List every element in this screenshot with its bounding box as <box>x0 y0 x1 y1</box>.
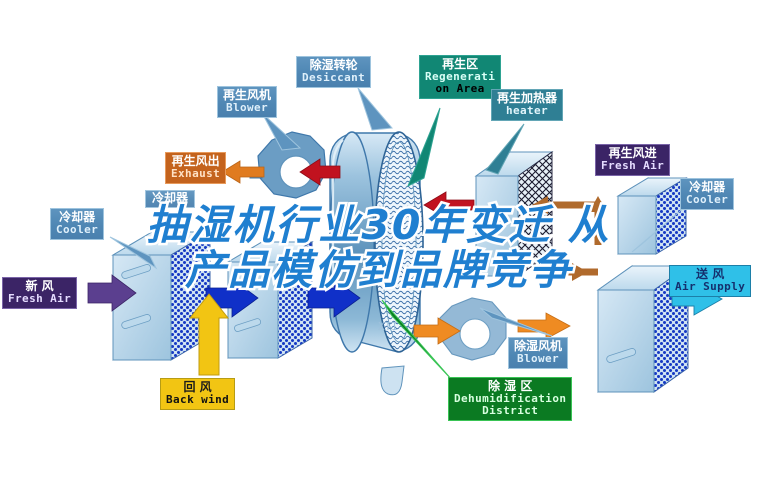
callout-cooler-left[interactable]: 冷却器 Cooler <box>50 208 104 240</box>
callout-regeneration-heater[interactable]: 再生加热器 heater <box>491 89 563 121</box>
callout-regeneration-area[interactable]: 再生区 Regenerati on Area <box>419 55 501 99</box>
callout-en: Desiccant <box>302 72 365 84</box>
callout-cn: 除湿风机 <box>514 340 562 353</box>
callout-en: Cooler <box>56 224 98 236</box>
callout-cn: 送 风 <box>675 268 745 281</box>
callout-cn: 回 风 <box>166 381 229 394</box>
callout-cn: 再生风出 <box>171 155 220 168</box>
callout-cooler-right[interactable]: 冷却器 Cooler <box>680 178 734 210</box>
callout-cn: 再生区 <box>425 58 495 71</box>
callout-regeneration-blower[interactable]: 再生风机 Blower <box>217 86 277 118</box>
callout-en2: District <box>454 405 566 417</box>
callout-desiccant-wheel[interactable]: 除湿转轮 Desiccant <box>296 56 371 88</box>
dehumidifier-flow-diagram: XTI <box>0 0 757 488</box>
callout-en: Cooler <box>686 194 728 206</box>
callout-cn: 再生加热器 <box>497 92 557 105</box>
cooler-block-regen-inlet <box>618 178 686 254</box>
callout-cooler-left-second[interactable]: 冷却器 <box>145 190 195 208</box>
diagram-canvas: XTI <box>0 0 757 488</box>
callout-cn: 冷却器 <box>686 181 728 194</box>
callout-en: Blower <box>514 353 562 365</box>
callout-dehumidify-blower[interactable]: 除湿风机 Blower <box>508 337 568 369</box>
callout-en: heater <box>497 105 557 117</box>
callout-regeneration-exhaust[interactable]: 再生风出 Exhaust <box>165 152 226 184</box>
callout-en: Back wind <box>166 394 229 406</box>
arrow-regen-inlet-path <box>546 205 598 272</box>
desiccant-rotor-wheel: XTI <box>330 132 423 395</box>
callout-en: Exhaust <box>171 168 220 180</box>
callout-en: Blower <box>223 102 271 114</box>
callout-cn: 冷却器 <box>56 211 98 224</box>
callout-fresh-air-intake[interactable]: 新 风 Fresh Air <box>2 277 77 309</box>
callout-cn: 除湿转轮 <box>302 59 365 72</box>
callout-cn: 新 风 <box>8 280 71 293</box>
callout-dehumidification-district[interactable]: 除 湿 区 Dehumidification District <box>448 377 572 421</box>
callout-back-wind[interactable]: 回 风 Back wind <box>160 378 235 410</box>
rotor-watermark: XTI <box>378 320 398 333</box>
callout-cn: 除 湿 区 <box>454 380 566 393</box>
callout-air-supply[interactable]: 送 风 Air Supply <box>669 265 751 297</box>
callout-regeneration-fresh-air[interactable]: 再生风进 Fresh Air <box>595 144 670 176</box>
callout-cn: 再生风机 <box>223 89 271 102</box>
callout-en2: on Area <box>425 83 495 95</box>
callout-cn: 冷却器 <box>152 192 188 205</box>
callout-en: Fresh Air <box>601 160 664 172</box>
callout-cn: 再生风进 <box>601 147 664 160</box>
callout-en: Air Supply <box>675 281 745 293</box>
arrow-exhaust <box>222 161 264 183</box>
callout-en: Fresh Air <box>8 293 71 305</box>
arrow-regen-red-right <box>424 192 474 218</box>
